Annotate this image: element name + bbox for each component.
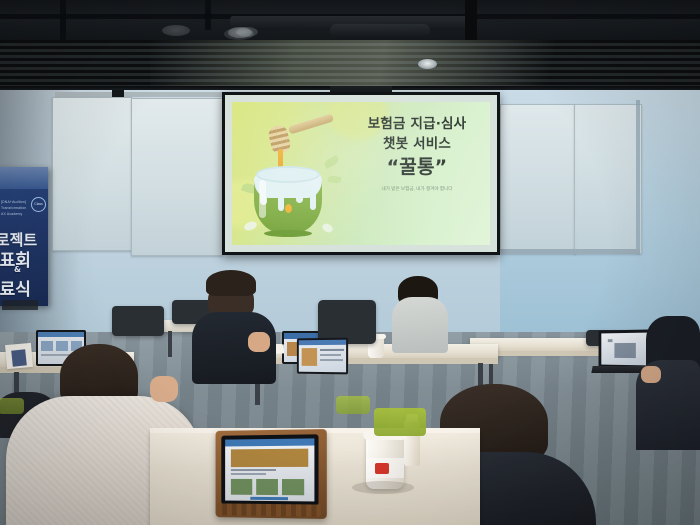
chair-green-back [336, 396, 370, 414]
tablet-viewed [297, 338, 348, 375]
leaf-decoration [327, 175, 341, 185]
flower-decoration [321, 222, 334, 234]
tablet-screen-text [320, 359, 343, 361]
jar-rim [256, 166, 320, 183]
banner-seal: Class [31, 197, 46, 212]
slide-text-block: 보험금 지급·심사 챗봇 서비스 “꿀통” 내가 받은 보험금, 내가 챙겨야 … [350, 116, 484, 192]
flower-decoration [243, 220, 258, 232]
banner-stand [2, 300, 38, 310]
tablet-front-thumb [256, 479, 278, 495]
laptop-right [599, 329, 654, 368]
slide-title-line-2: 챗봇 서비스 [350, 136, 484, 153]
attendee-dark-shirt-hair [206, 270, 256, 296]
laptop-screen-block [41, 341, 53, 351]
ceiling-light [162, 25, 190, 36]
banner-ampersand: & [14, 265, 21, 274]
honey-jar-illustration [240, 118, 344, 236]
jar-base-shadow [264, 230, 312, 237]
banner-subtitle-1: [DNA+Audtion] [1, 200, 26, 205]
presentation-room-photo: 보험금 지급·심사 챗봇 서비스 “꿀통” 내가 받은 보험금, 내가 챙겨야 … [0, 0, 700, 525]
laptop-screen-header [38, 332, 84, 337]
tablet-front-text [231, 469, 276, 471]
banner-title-line-3: 수료식 [0, 275, 31, 300]
attendee-front-hand [150, 376, 178, 402]
coffee-cup-logo [375, 463, 389, 474]
tablet-screen-image [302, 348, 317, 366]
ceiling-light-reflection [150, 40, 570, 88]
presentation-slide: 보험금 지급·심사 챗봇 서비스 “꿀통” 내가 받은 보험금, 내가 챙겨야 … [232, 102, 490, 245]
recessed-ceiling-light [418, 59, 437, 69]
tablet-front-screen [225, 438, 314, 501]
whiteboard-tray [500, 249, 640, 254]
tablet-front-text [231, 473, 266, 475]
attendee-gray-shirt-body [392, 297, 448, 353]
banner-subtitle-2: Transformation [1, 206, 26, 211]
tablet-leather-case [216, 429, 327, 519]
slide-subtitle: 내가 받은 보험금, 내가 챙겨야 합니다 [350, 185, 484, 192]
tablet-viewed-screen [299, 340, 346, 373]
attendee-dark-shirt-hand [248, 332, 270, 352]
event-banner: [DNA+Audtion] Transformation AX Academy … [0, 167, 48, 306]
laptop-screen [601, 333, 650, 366]
banner-header-band [0, 167, 48, 189]
whiteboard-panel [500, 104, 576, 254]
jar-highlight [259, 180, 266, 218]
honey-bead [285, 204, 292, 213]
laptop-screen-content [608, 339, 613, 342]
banner-subtitle-3: AX Academy [1, 212, 22, 217]
tablet-front-bezel [221, 434, 318, 505]
tablet-screen-header [299, 340, 346, 346]
wall-joint [636, 100, 640, 255]
attendee-right-hand [641, 366, 661, 383]
leaf-decoration [323, 155, 340, 169]
notebook-left [11, 349, 27, 366]
glaze-drip [278, 194, 284, 211]
ceiling-duct [330, 24, 430, 37]
whiteboard-panel [574, 104, 642, 254]
ceiling-light [224, 28, 254, 40]
tablet-front-thumb [282, 479, 304, 495]
projection-screen: 보험금 지급·심사 챗봇 서비스 “꿀통” 내가 받은 보험금, 내가 챙겨야 … [222, 92, 500, 255]
ceiling-hanger [205, 0, 211, 30]
cup-shadow [352, 481, 414, 494]
tablet-front-banner-image [231, 449, 308, 467]
tablet-screen-text [320, 354, 341, 356]
chair-green-back [0, 398, 24, 414]
desk-leg [168, 331, 172, 357]
laptop-screen-content [614, 343, 635, 358]
glaze-drip [296, 192, 303, 203]
laptop-screen-block [56, 341, 68, 351]
whiteboard-panel [52, 97, 132, 251]
desk-edge [238, 358, 498, 364]
chair-green-back [374, 408, 426, 436]
slide-title-line-3: “꿀통” [350, 156, 484, 179]
tablet-front-thumb [231, 479, 252, 495]
tablet-front-footer [250, 497, 288, 500]
tablet-case-flap [217, 503, 320, 516]
screen-surface: 보험금 지급·심사 챗봇 서비스 “꿀통” 내가 받은 보험금, 내가 챙겨야 … [225, 95, 497, 252]
ceiling-hanger [60, 0, 66, 44]
whiteboard-panel [131, 98, 223, 256]
tablet-screen-text [320, 349, 344, 351]
chair-back [112, 306, 164, 336]
glaze-drip [310, 190, 316, 210]
tablet-front-header [225, 438, 314, 446]
slide-title-line-1: 보험금 지급·심사 [350, 116, 484, 133]
